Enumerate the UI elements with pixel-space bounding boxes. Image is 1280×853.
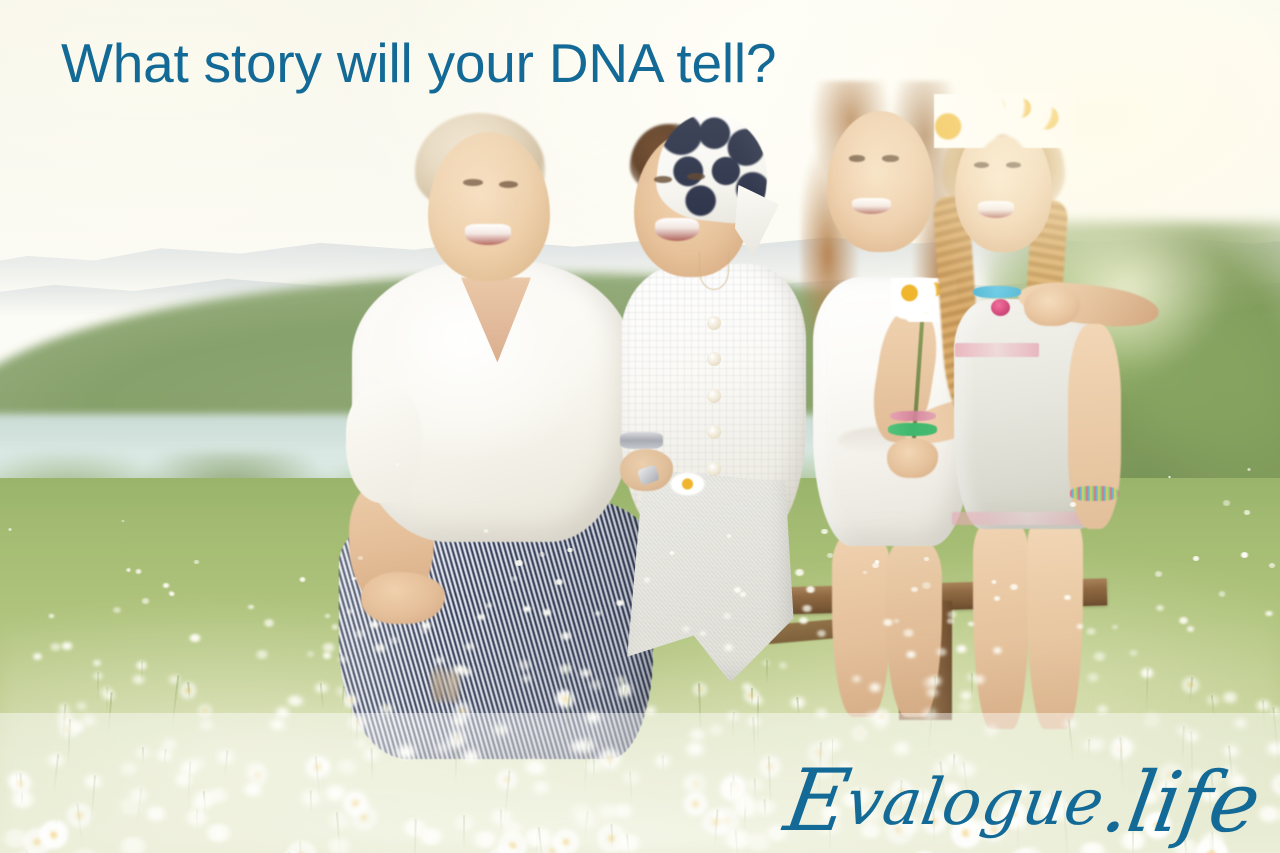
daisy-flower-crown-icon [934,94,1075,149]
necklace-pendant-icon [991,299,1010,316]
promo-banner: What story will your DNA tell? Evalogue.… [0,0,1280,853]
daughter-eye-left [849,155,866,161]
mother-eye-left [654,176,672,183]
hero-photograph [0,0,1280,853]
page-title: What story will your DNA tell? [61,36,776,91]
embracing-hand [1024,287,1080,326]
grandmother-eye-right [499,181,518,188]
girl-smile [978,201,1014,217]
evalogue-life-logo[interactable]: Evalogue.life [781,771,1263,835]
grandmother-smile [465,224,511,244]
grandmother-eye-left [463,179,482,186]
turquoise-necklace [973,286,1022,298]
pink-bracelet [890,411,936,421]
daughter-smile [852,198,890,214]
logo-tld: .life [1096,754,1266,851]
wristwatch-icon [620,432,664,448]
daughter-eye-right [882,155,899,161]
logo-name: valogue [841,766,1110,840]
mother-smile [655,218,699,240]
girl-dress-trim [955,343,1039,357]
mother-necklace [699,252,729,291]
green-bracelet [888,423,937,436]
